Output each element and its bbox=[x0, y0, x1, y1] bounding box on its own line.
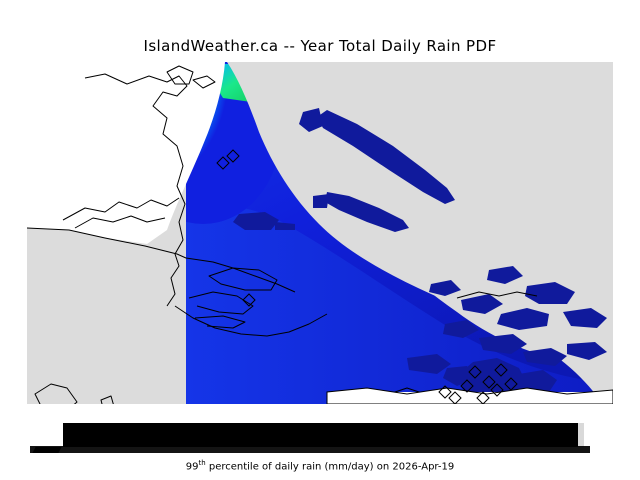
colorbar-gradient bbox=[63, 423, 578, 447]
weather-map-figure: IslandWeather.ca -- Year Total Daily Rai… bbox=[0, 0, 640, 480]
page-title: IslandWeather.ca -- Year Total Daily Rai… bbox=[0, 37, 640, 55]
map-canvas[interactable] bbox=[27, 62, 613, 404]
colorbar-end-cap bbox=[578, 423, 584, 447]
colorbar[interactable] bbox=[63, 423, 578, 447]
caption-percentile-suffix: th bbox=[198, 459, 205, 467]
land-southwest bbox=[27, 230, 186, 404]
colorbar-tick-labels bbox=[30, 446, 590, 453]
figure-caption: 99th percentile of daily rain (mm/day) o… bbox=[0, 459, 640, 472]
colorbar-min-arrow bbox=[32, 447, 61, 453]
inlet-mid-head bbox=[313, 194, 329, 208]
caption-date: 2026-Apr-19 bbox=[392, 461, 454, 472]
caption-percentile-number: 99 bbox=[186, 461, 199, 472]
map-panel[interactable] bbox=[27, 62, 613, 404]
caption-main-text: percentile of daily rain (mm/day) on bbox=[206, 461, 393, 472]
